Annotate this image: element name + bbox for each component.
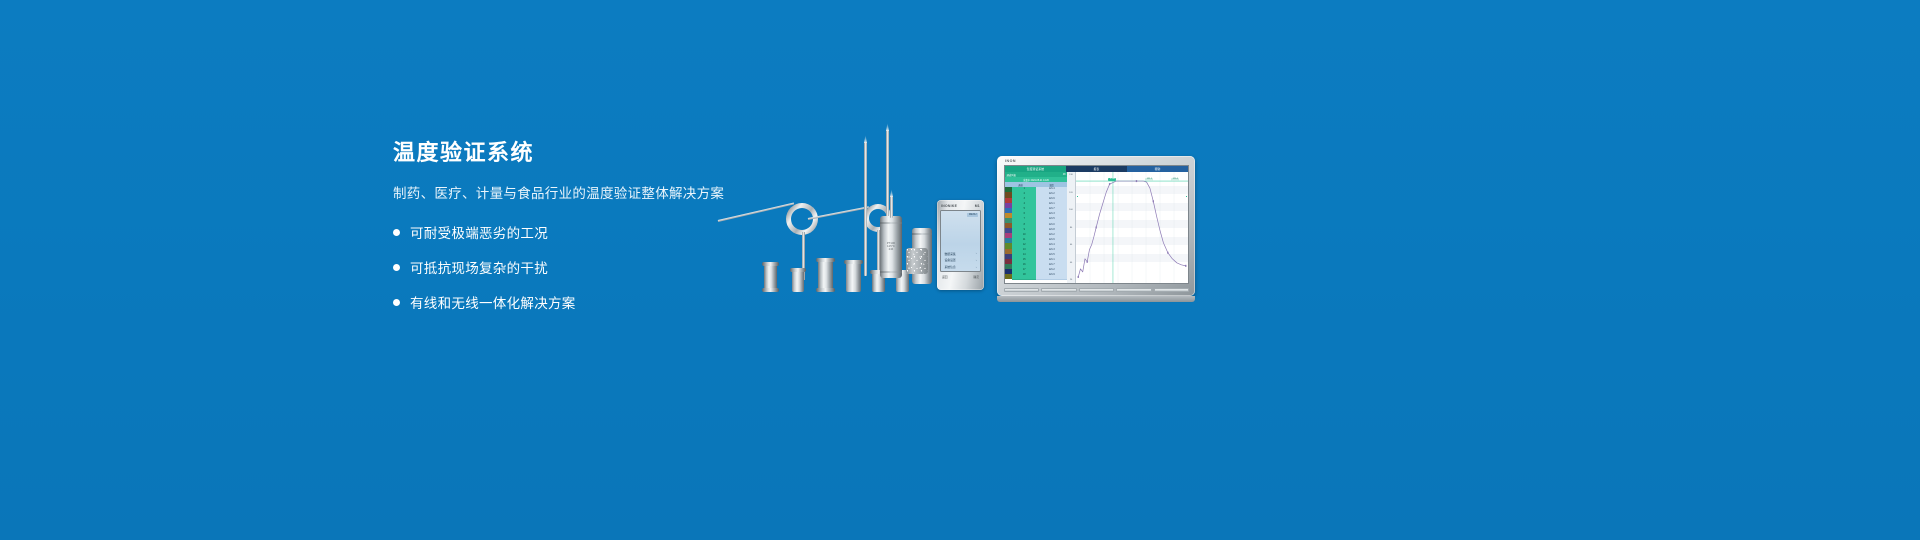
logger-rim [816,288,835,292]
logger-base-2 [792,268,804,292]
monitor-button[interactable] [1154,288,1189,291]
monitor-button[interactable] [1116,288,1151,291]
chart-data-point [1185,265,1186,267]
logger-base-3 [818,258,833,292]
table-count: 48 [1063,173,1066,177]
feature-label: 可抵抗现场复杂的干扰 [410,257,548,277]
chart-cursor-label[interactable]: 0 min [1108,178,1116,181]
chart-y-axis: 13012010080604020 [1067,172,1076,283]
menu-item-label: 系统信息 [945,265,956,269]
logger-antenna [890,196,893,218]
feature-label: 有线和无线一体化解决方案 [410,292,576,312]
feature-list: 可耐受极端恶劣的工况 可抵抗现场复杂的干扰 有线和无线一体化解决方案 [393,222,753,312]
menu-item-label: 数据采集 [945,252,956,256]
chart-data-point [1167,252,1168,254]
monitor-display: INON 温度验证系统 报表 帮助 通道列表 48 采集中 2024- [997,156,1195,296]
handheld-back-button[interactable]: 返回 [942,275,948,279]
handheld-reader[interactable]: INONIKE M1 MENU 数据采集 › 设备设置 › 系统信息 [937,200,984,290]
monitor-button[interactable] [1079,288,1114,291]
handheld-menu: 数据采集 › 设备设置 › 系统信息 › [943,252,978,269]
menu-item[interactable]: 设备设置 › [943,258,978,262]
handheld-screen: MENU 数据采集 › 设备设置 › 系统信息 › [940,210,981,272]
menu-item[interactable]: 数据采集 › [943,252,978,256]
monitor-foot [997,296,1195,302]
rigid-needle-probe-tall [864,142,867,276]
menu-item[interactable]: 系统信息 › [943,265,978,269]
probe-wire [718,202,794,221]
bullet-dot-icon [393,264,400,271]
temperature-chart: 13012010080604020 0 min 121.1 121.4 [1067,172,1188,283]
logger-grip [880,271,902,273]
monitor-button[interactable] [1041,288,1076,291]
logger-base-4 [846,260,861,292]
channel-color-swatch [1005,274,1012,279]
page-title: 温度验证系统 [393,140,753,166]
logger-grip [880,222,902,224]
y-tick-label: 40 [1070,262,1072,264]
monitor-brand: INON [1005,159,1016,163]
software-body: 通道列表 48 采集中 2024-05-21 14:26 通道 温度 1121.… [1005,172,1188,283]
hero-banner: 温度验证系统 制药、医疗、计量与食品行业的温度验证整体解决方案 可耐受极端恶劣的… [0,0,1920,540]
column-temp: 温度 [1036,183,1067,187]
chart-data-point [1153,200,1154,202]
table-row[interactable]: 18121.9 [1005,274,1067,279]
channel-table: 通道列表 48 采集中 2024-05-21 14:26 通道 温度 1121.… [1005,172,1067,283]
monitor-button[interactable] [1004,288,1039,291]
data-logger-small: PT100 125°C 24h [880,216,902,278]
logger-base-1 [764,262,777,292]
handheld-button-bar: 返回 确定 [940,275,981,279]
chart-data-point [1078,276,1079,278]
chart-data-point [1095,227,1096,229]
chevron-right-icon: › [976,266,977,269]
chart-data-point [1087,261,1088,263]
y-tick-label: 130 [1069,174,1072,176]
product-group: PT100 125°C 24h PT100 125°C 48h INONIKE … [700,120,1220,310]
logger-rim [762,288,779,292]
logger-grip [912,233,932,235]
logger-label: PT100 125°C 24h [887,242,895,252]
channel-value: 121.9 [1036,273,1067,279]
handheld-menu-badge: MENU [967,213,978,217]
list-item: 可抵抗现场复杂的干扰 [393,257,753,277]
channel-id: 18 [1012,273,1036,279]
menu-item-label: 设备设置 [945,258,956,262]
y-tick-label: 100 [1069,209,1072,211]
y-tick-label: 20 [1070,279,1072,281]
chart-plateau-label-right: 121.4 [1171,178,1179,181]
logger-rim [844,260,863,264]
chart-svg [1076,172,1188,283]
table-title: 通道列表 [1007,173,1017,177]
handheld-brand: INONIKE [941,204,957,208]
list-item: 可耐受极端恶劣的工况 [393,222,753,242]
table-body[interactable]: 1121.42121.23121.64121.15121.76121.37121… [1005,187,1067,283]
chart-plot-area[interactable]: 0 min 121.1 121.4 [1076,172,1188,283]
column-channel: 通道 [1005,183,1036,187]
logger-rim [816,258,835,262]
sinter-block [906,248,928,274]
handheld-model: M1 [975,204,980,208]
chevron-right-icon: › [976,259,977,262]
page-subtitle: 制药、医疗、计量与食品行业的温度验证整体解决方案 [393,182,753,202]
chevron-right-icon: › [976,252,977,255]
y-tick-label: 120 [1069,192,1072,194]
bullet-dot-icon [393,299,400,306]
chart-data-point [1136,180,1137,182]
logger-rim [790,268,806,272]
y-tick-label: 80 [1070,227,1072,229]
y-tick-label: 60 [1070,244,1072,246]
handheld-ok-button[interactable]: 确定 [973,275,979,279]
bullet-dot-icon [393,229,400,236]
chart-data-point [1109,183,1110,185]
feature-label: 可耐受极端恶劣的工况 [410,222,548,242]
list-item: 有线和无线一体化解决方案 [393,292,753,312]
chart-plateau-label-left: 121.1 [1145,178,1153,181]
copy-block: 温度验证系统 制药、医疗、计量与食品行业的温度验证整体解决方案 可耐受极端恶劣的… [393,140,753,327]
chart-marker-handle-right[interactable] [1185,195,1188,198]
monitor-button-bar [1004,287,1189,293]
software-screen: 温度验证系统 报表 帮助 通道列表 48 采集中 2024-05-21 14:2… [1004,165,1189,284]
logger-rim [762,262,779,266]
